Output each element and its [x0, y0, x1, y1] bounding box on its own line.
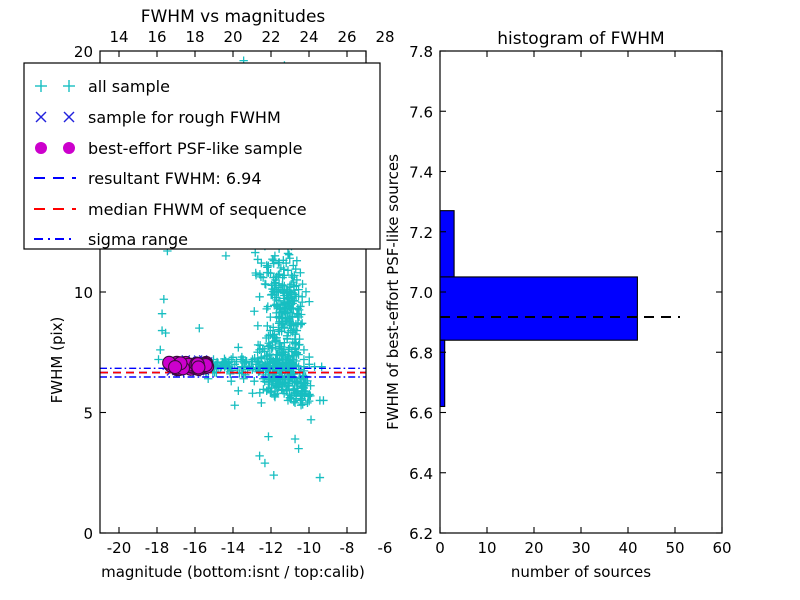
left-panel-title: FWHM vs magnitudes — [141, 7, 326, 27]
y-tick-label: 5 — [83, 405, 93, 423]
legend-item-label: sample for rough FWHM — [88, 108, 281, 127]
top-tick-label: 22 — [261, 28, 280, 46]
left-panel-top-tick-labels: 14 16 18 20 22 24 26 28 — [109, 28, 394, 46]
left-panel-bottom-tick-labels: -20 -18 -16 -14 -12 -10 -8 -6 — [107, 539, 393, 557]
y-tick-label: 7.6 — [409, 103, 433, 121]
top-tick-label: 18 — [185, 28, 204, 46]
top-tick-label: 26 — [337, 28, 356, 46]
legend: all sample sample for rough FWHM — [24, 63, 380, 249]
x-tick-label: 10 — [477, 539, 496, 557]
y-tick-label: 7.8 — [409, 43, 433, 61]
right-panel-ylabel: FWHM of best-effort PSF-like sources — [384, 154, 402, 430]
x-tick-label: 40 — [618, 539, 637, 557]
y-tick-label: 6.2 — [409, 525, 433, 543]
right-panel-title: histogram of FWHM — [497, 29, 664, 49]
y-tick-label: 0 — [83, 525, 93, 543]
legend-item-label: resultant FWHM: 6.94 — [88, 169, 262, 188]
top-tick-label: 28 — [375, 28, 394, 46]
bottom-tick-label: -18 — [145, 539, 170, 557]
x-tick-label: 50 — [665, 539, 684, 557]
bottom-tick-label: -14 — [221, 539, 246, 557]
top-tick-label: 20 — [223, 28, 242, 46]
right-panel: histogram of FWHM — [384, 29, 732, 581]
bottom-tick-label: -16 — [183, 539, 208, 557]
y-tick-label: 10 — [74, 284, 93, 302]
y-tick-label: 7.0 — [409, 284, 433, 302]
x-tick-label: 20 — [524, 539, 543, 557]
x-tick-label: 60 — [712, 539, 731, 557]
legend-item-label: best-effort PSF-like sample — [88, 139, 302, 158]
left-panel-xlabel: magnitude (bottom:isnt / top:calib) — [101, 563, 365, 581]
histogram-bar — [440, 211, 454, 277]
right-panel-xlabel: number of sources — [511, 563, 651, 581]
bottom-tick-label: -8 — [340, 539, 355, 557]
top-tick-label: 24 — [299, 28, 318, 46]
matplotlib-figure: FWHM vs magnitudes 14 16 18 20 22 24 26 … — [0, 0, 800, 600]
x-tick-label: 0 — [435, 539, 445, 557]
y-tick-label: 6.6 — [409, 405, 433, 423]
histogram-bar — [440, 277, 637, 340]
top-tick-label: 16 — [147, 28, 166, 46]
bottom-tick-label: -20 — [107, 539, 132, 557]
histogram-bars — [440, 211, 637, 407]
y-tick-label: 6.8 — [409, 344, 433, 362]
y-tick-label: 6.4 — [409, 465, 433, 483]
right-panel-y-tick-labels: 6.2 6.4 6.6 6.8 7.0 7.2 7.4 7.6 7.8 — [409, 43, 433, 543]
legend-item-label: median FHWM of sequence — [88, 200, 307, 219]
top-tick-label: 14 — [109, 28, 128, 46]
legend-item-label: all sample — [88, 77, 170, 96]
bottom-tick-label: -6 — [378, 539, 393, 557]
y-tick-label: 7.2 — [409, 224, 433, 242]
legend-item-label: sigma range — [88, 230, 188, 249]
bottom-tick-label: -10 — [297, 539, 322, 557]
left-panel-ylabel: FWHM (pix) — [48, 317, 66, 404]
figure-canvas: FWHM vs magnitudes 14 16 18 20 22 24 26 … — [0, 0, 800, 600]
y-tick-label: 20 — [74, 43, 93, 61]
right-panel-x-tick-labels: 0 10 20 30 40 50 60 — [435, 539, 731, 557]
bottom-tick-label: -12 — [259, 539, 284, 557]
histogram-bar — [440, 340, 445, 406]
x-tick-label: 30 — [571, 539, 590, 557]
y-tick-label: 7.4 — [409, 164, 433, 182]
left-panel: FWHM vs magnitudes 14 16 18 20 22 24 26 … — [24, 7, 395, 581]
